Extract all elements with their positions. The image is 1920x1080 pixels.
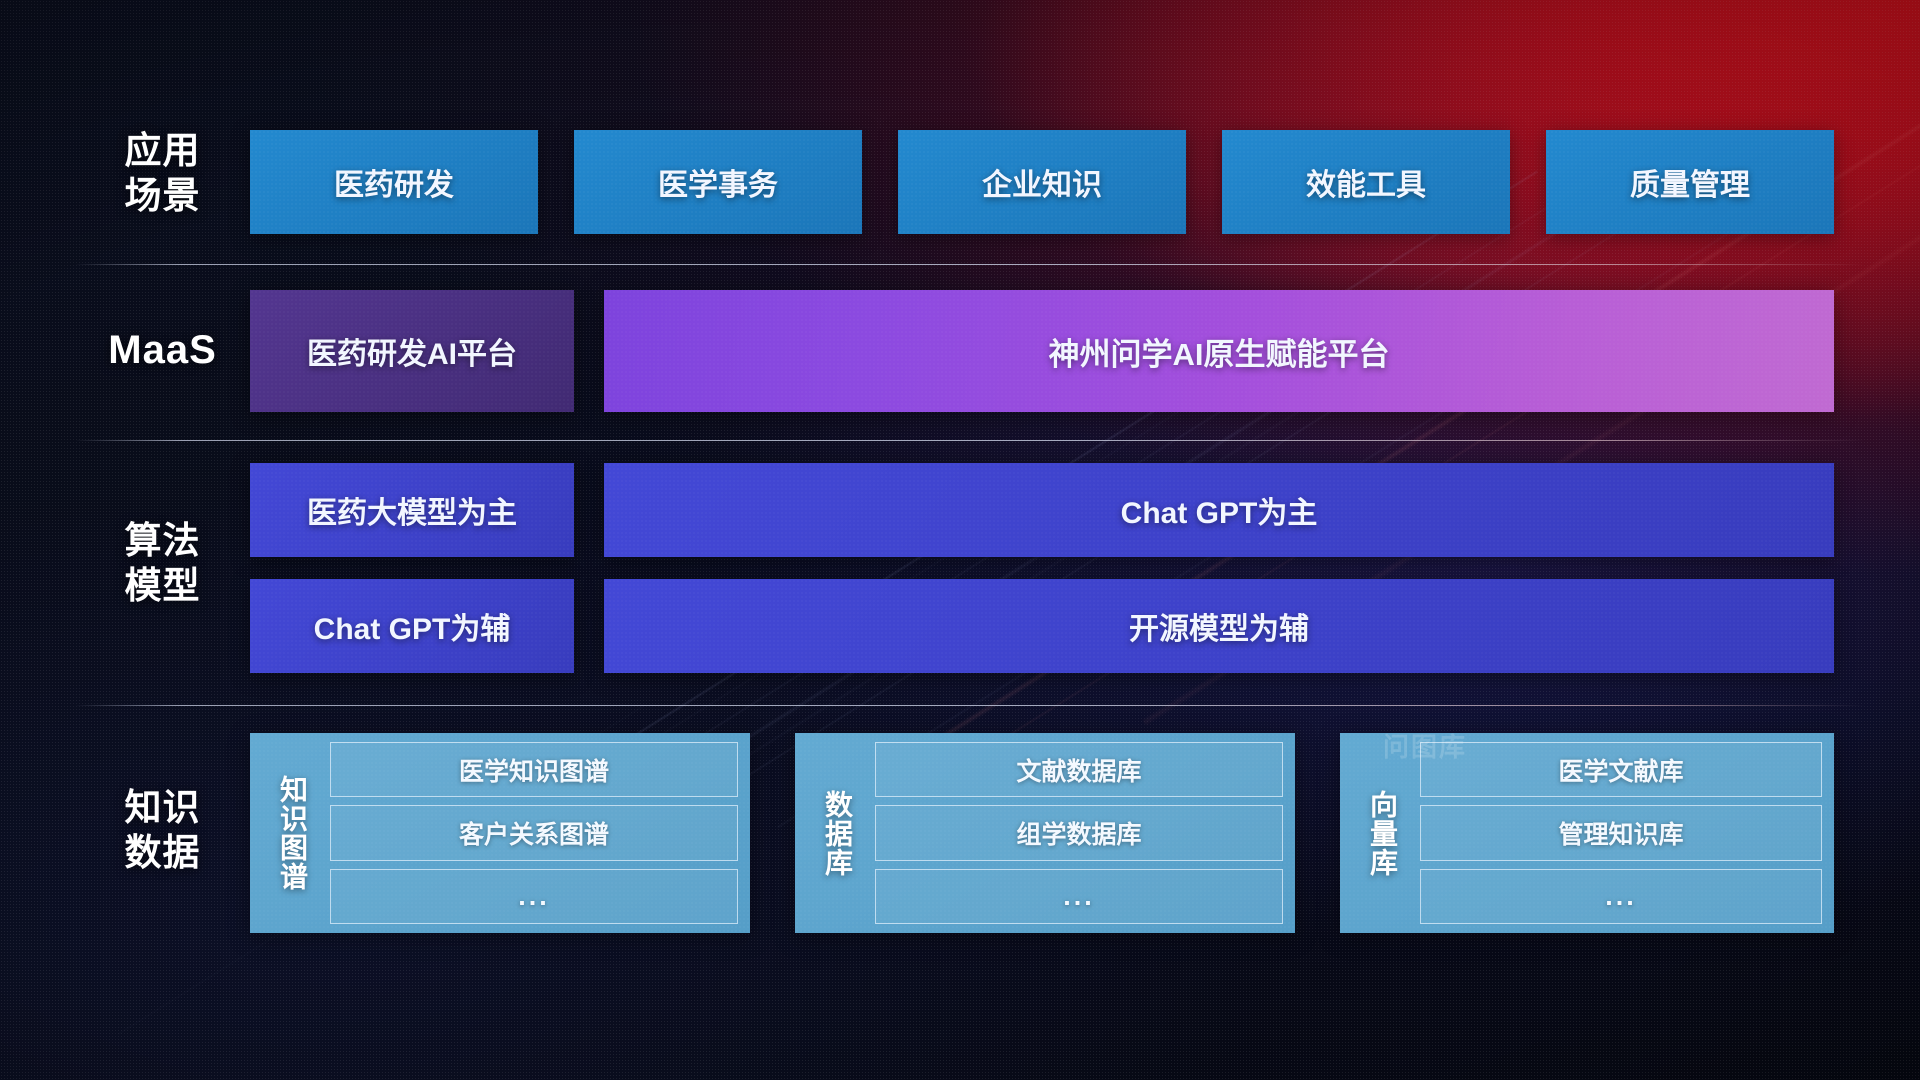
row-application-scenarios: 应用 场景 医药研发 医学事务 企业知识 效能工具 质量管理: [0, 130, 1920, 234]
maas-banner[interactable]: 神州问学AI原生赋能平台: [604, 290, 1834, 412]
knowledge-panel-items-database: 文献数据库 组学数据库 ...: [869, 742, 1283, 924]
algo-box-secondary-right[interactable]: 开源模型为辅: [604, 579, 1834, 673]
divider-2: [75, 440, 1865, 441]
knowledge-panel-knowledge-graph[interactable]: 知识图谱 医学知识图谱 客户关系图谱 ...: [250, 733, 750, 933]
knowledge-item[interactable]: 客户关系图谱: [330, 805, 738, 860]
scenario-box-3[interactable]: 企业知识: [898, 130, 1186, 234]
knowledge-panel-items-knowledge-graph: 医学知识图谱 客户关系图谱 ...: [324, 742, 738, 924]
algo-box-primary-left[interactable]: 医药大模型为主: [250, 463, 574, 557]
knowledge-panel-label-knowledge-graph: 知识图谱: [260, 742, 324, 924]
row-algorithm-models: 算法 模型 医药大模型为主 Chat GPT为主 Chat GPT为辅 开源模型…: [0, 463, 1920, 678]
row-label-application-scenarios: 应用 场景: [75, 128, 250, 218]
scenario-box-2[interactable]: 医学事务: [574, 130, 862, 234]
knowledge-item[interactable]: ...: [1420, 869, 1822, 924]
scenario-box-5[interactable]: 质量管理: [1546, 130, 1834, 234]
maas-platform-box[interactable]: 医药研发AI平台: [250, 290, 574, 412]
divider-1: [75, 264, 1865, 265]
row-knowledge-data: 知识 数据 知识图谱 医学知识图谱 客户关系图谱 ... 数据库 文献数据库 组…: [0, 733, 1920, 933]
row-label-algorithm-models: 算法 模型: [75, 518, 250, 608]
knowledge-panel-items-vector-store: 医学文献库 管理知识库 ...: [1414, 742, 1822, 924]
knowledge-item[interactable]: 医学知识图谱: [330, 742, 738, 797]
scenario-box-4[interactable]: 效能工具: [1222, 130, 1510, 234]
divider-3: [75, 705, 1865, 706]
architecture-diagram: 应用 场景 医药研发 医学事务 企业知识 效能工具 质量管理 MaaS 医药研发…: [0, 0, 1920, 1080]
knowledge-item[interactable]: 文献数据库: [875, 742, 1283, 797]
knowledge-item[interactable]: 医学文献库: [1420, 742, 1822, 797]
knowledge-panel-database[interactable]: 数据库 文献数据库 组学数据库 ...: [795, 733, 1295, 933]
knowledge-item[interactable]: ...: [330, 869, 738, 924]
knowledge-panel-label-vector-store: 向量库: [1350, 742, 1414, 924]
knowledge-panel-label-database: 数据库: [805, 742, 869, 924]
row-label-maas: MaaS: [75, 326, 250, 375]
scenario-box-1[interactable]: 医药研发: [250, 130, 538, 234]
row-label-knowledge-data: 知识 数据: [75, 785, 250, 875]
knowledge-item[interactable]: 管理知识库: [1420, 805, 1822, 860]
watermark: 问图库: [1383, 727, 1467, 764]
algo-box-primary-right[interactable]: Chat GPT为主: [604, 463, 1834, 557]
knowledge-item[interactable]: ...: [875, 869, 1283, 924]
knowledge-item[interactable]: 组学数据库: [875, 805, 1283, 860]
algo-box-secondary-left[interactable]: Chat GPT为辅: [250, 579, 574, 673]
row-maas: MaaS 医药研发AI平台 神州问学AI原生赋能平台: [0, 290, 1920, 412]
